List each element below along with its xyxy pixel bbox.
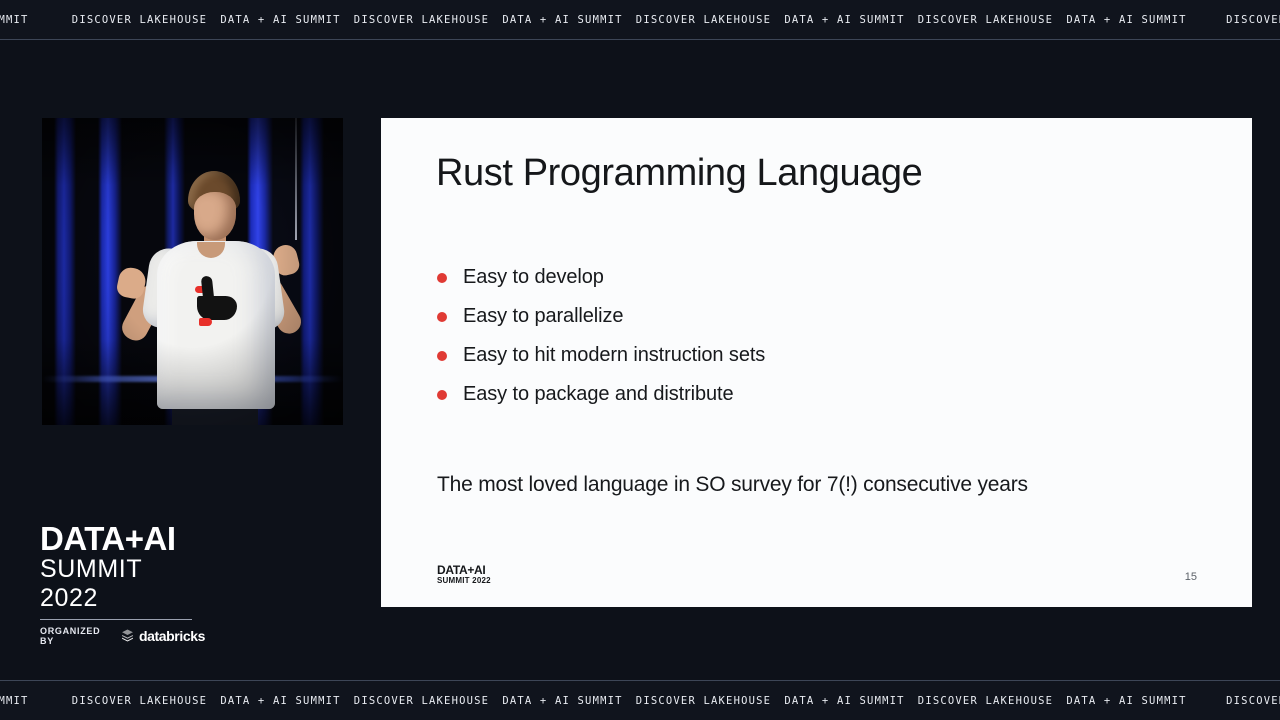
duck-feet-icon xyxy=(199,318,212,326)
speaker-face xyxy=(194,192,236,240)
ticker-item: DISCOVER LAKEHOUSE xyxy=(69,14,210,26)
slide-footer-logo: DATA+AI SUMMIT 2022 xyxy=(437,564,491,585)
speaker-tshirt xyxy=(157,241,275,409)
ticker-item: DATA + AI SUMMIT xyxy=(210,695,351,707)
event-logo-line1: DATA+AI xyxy=(40,522,205,555)
ticker-item: DISCOVER LAKEHOUSE xyxy=(351,14,492,26)
slide-title: Rust Programming Language xyxy=(436,152,922,195)
ticker-bar-bottom: I SUMMIT DISCOVER LAKEHOUSE DATA + AI SU… xyxy=(0,680,1280,720)
ticker-item: DISCOVER LA xyxy=(1197,695,1280,707)
bullet-text: Easy to develop xyxy=(463,266,604,289)
bullet-text: Easy to parallelize xyxy=(463,305,623,328)
ticker-item: DATA + AI SUMMIT xyxy=(774,695,915,707)
ticker-item: DISCOVER LAKEHOUSE xyxy=(915,14,1056,26)
ticker-item: DISCOVER LAKEHOUSE xyxy=(633,14,774,26)
databricks-logo-icon xyxy=(121,629,134,642)
mic-cable xyxy=(295,118,297,240)
bullet-item: Easy to parallelize xyxy=(437,297,857,336)
event-logo-line2: SUMMIT 2022 xyxy=(40,555,205,616)
ticker-item: DATA + AI SUMMIT xyxy=(1056,695,1197,707)
slide-page-number: 15 xyxy=(1185,571,1197,583)
ticker-item: DATA + AI SUMMIT xyxy=(492,695,633,707)
ticker-track-top: I SUMMIT DISCOVER LAKEHOUSE DATA + AI SU… xyxy=(0,14,1280,26)
bullet-dot-icon xyxy=(437,351,447,361)
ticker-item: DISCOVER LAKEHOUSE xyxy=(69,695,210,707)
organizer-name: databricks xyxy=(139,628,205,644)
slide-bullet-list: Easy to develop Easy to parallelize Easy… xyxy=(437,258,857,414)
ticker-item: DISCOVER LAKEHOUSE xyxy=(351,695,492,707)
ticker-item: DATA + AI SUMMIT xyxy=(1056,14,1197,26)
bullet-item: Easy to develop xyxy=(437,258,857,297)
ticker-item: DISCOVER LAKEHOUSE xyxy=(915,695,1056,707)
ticker-track-bottom: I SUMMIT DISCOVER LAKEHOUSE DATA + AI SU… xyxy=(0,695,1280,707)
duck-body-icon xyxy=(197,296,237,320)
organized-by-label: ORGANIZED BY xyxy=(40,626,116,646)
bullet-text: Easy to hit modern instruction sets xyxy=(463,344,765,367)
organized-by-row: ORGANIZED BY databricks xyxy=(40,626,205,646)
event-logo-divider xyxy=(40,619,192,620)
ticker-bar-top: I SUMMIT DISCOVER LAKEHOUSE DATA + AI SU… xyxy=(0,0,1280,40)
bullet-dot-icon xyxy=(437,312,447,322)
bullet-dot-icon xyxy=(437,390,447,400)
presentation-slide[interactable]: Rust Programming Language Easy to develo… xyxy=(381,118,1252,607)
slide-subtitle: The most loved language in SO survey for… xyxy=(437,473,1028,497)
ticker-item: DISCOVER LA xyxy=(1197,14,1280,26)
slide-footer-logo-line2: SUMMIT 2022 xyxy=(437,577,491,585)
bullet-item: Easy to package and distribute xyxy=(437,375,857,414)
ticker-item: DISCOVER LAKEHOUSE xyxy=(633,695,774,707)
speaker-figure xyxy=(42,118,343,425)
ticker-item: DATA + AI SUMMIT xyxy=(210,14,351,26)
speaker-video-feed[interactable] xyxy=(42,118,343,425)
slide-footer-logo-line1: DATA+AI xyxy=(437,564,491,577)
bullet-text: Easy to package and distribute xyxy=(463,383,734,406)
ticker-item: I SUMMIT xyxy=(0,695,69,707)
ticker-item: DATA + AI SUMMIT xyxy=(774,14,915,26)
ticker-item: I SUMMIT xyxy=(0,14,69,26)
event-logo: DATA+AI SUMMIT 2022 ORGANIZED BY databri… xyxy=(40,522,205,646)
bullet-dot-icon xyxy=(437,273,447,283)
ticker-item: DATA + AI SUMMIT xyxy=(492,14,633,26)
bullet-item: Easy to hit modern instruction sets xyxy=(437,336,857,375)
session-player: I SUMMIT DISCOVER LAKEHOUSE DATA + AI SU… xyxy=(0,0,1280,720)
